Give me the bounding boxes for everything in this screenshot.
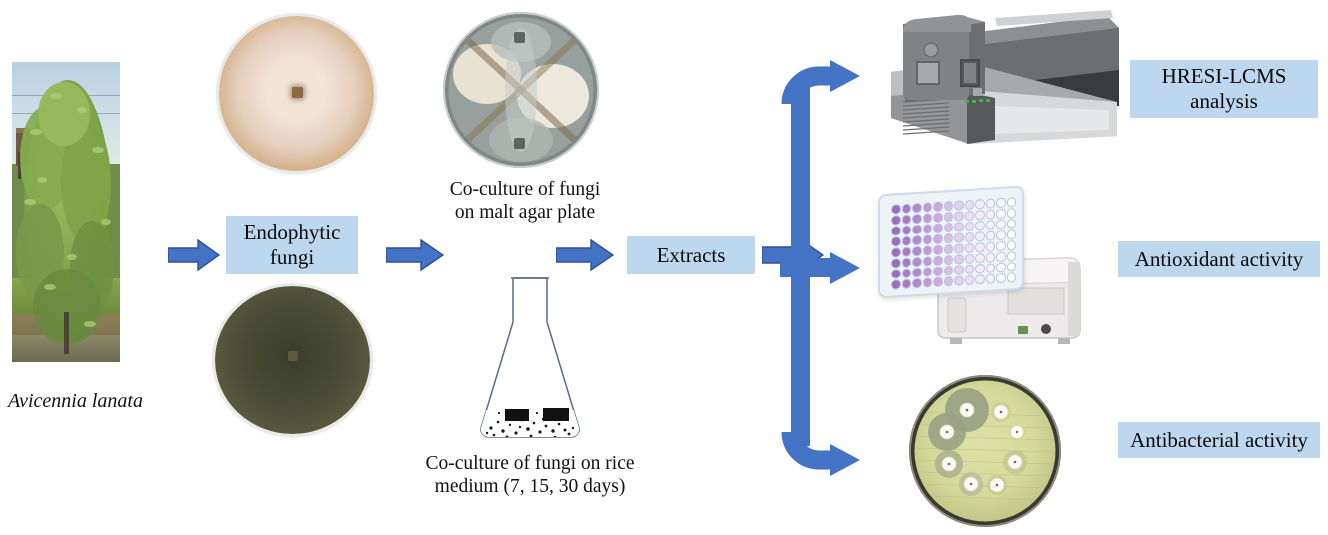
microplate-well — [923, 224, 933, 234]
microplate-well — [944, 244, 954, 254]
extracts-box[interactable]: Extracts — [627, 236, 755, 274]
microplate-well — [923, 256, 933, 266]
microplate-well — [965, 210, 975, 220]
microplate-well — [965, 253, 975, 263]
rice-medium-caption: Co-culture of fungi on rice medium (7, 1… — [385, 452, 675, 499]
microplate-well — [1007, 262, 1017, 272]
microplate-well — [933, 234, 943, 244]
microplate-well — [996, 241, 1006, 251]
microplate-well — [1007, 197, 1017, 207]
microplate-well — [933, 255, 943, 265]
microplate-well — [912, 224, 922, 234]
microplate-well — [954, 254, 964, 264]
microplate-well — [965, 264, 975, 274]
dark-green-fungal-colony-plate — [215, 286, 370, 434]
microplate-well — [954, 211, 964, 221]
microplate-well — [944, 212, 954, 222]
microplate-well — [933, 266, 943, 276]
microplate-well — [902, 214, 912, 224]
microplate-well — [975, 242, 985, 252]
microplate-well — [902, 236, 912, 246]
microplate-well — [944, 255, 954, 265]
microplate-well — [891, 247, 901, 257]
microplate-well — [912, 214, 922, 224]
antibacterial-label-box[interactable]: Antibacterial activity — [1118, 422, 1320, 458]
microplate-well — [944, 233, 954, 243]
microplate-well — [965, 232, 975, 242]
microplate-well — [902, 257, 912, 267]
tan-fungal-colony-plate — [219, 16, 374, 171]
microplate-well — [996, 208, 1006, 218]
microplate-well — [954, 243, 964, 253]
microplate-well — [954, 222, 964, 232]
microplate-well — [902, 246, 912, 256]
hresi-lcms-label-line1: HRESI-LCMS — [1162, 64, 1287, 89]
hresi-lcms-label-box[interactable]: HRESI-LCMS analysis — [1130, 60, 1318, 118]
microplate-well — [954, 200, 964, 210]
colony-inoculum-point — [292, 87, 303, 98]
microplate-well — [954, 265, 964, 275]
microplate-well — [975, 220, 985, 230]
arrow-coculture-to-extracts — [556, 238, 614, 272]
microplate-well — [944, 276, 954, 286]
plant-species-caption: Avicennia lanata — [8, 390, 158, 413]
microplate-well — [902, 279, 912, 289]
microplate-well — [933, 277, 943, 287]
microplate-well — [965, 243, 975, 253]
rice-medium-caption-line2: medium (7, 15, 30 days) — [385, 475, 675, 498]
microplate-well — [891, 215, 901, 225]
co-culture-malt-agar-plate — [443, 12, 599, 168]
microplate-well — [944, 201, 954, 211]
microplate-well-grid — [883, 191, 1019, 293]
microplate-well — [912, 257, 922, 267]
microplate-well — [912, 203, 922, 213]
microplate-well — [923, 234, 933, 244]
microplate-well — [965, 275, 975, 285]
96-well-microplate — [878, 186, 1024, 299]
microplate-well — [902, 268, 912, 278]
arrow-plant-to-fungi — [168, 238, 220, 272]
microplate-well — [975, 274, 985, 284]
malt-agar-caption: Co-culture of fungi on malt agar plate — [420, 178, 630, 225]
microplate-well — [986, 209, 996, 219]
microplate-well — [975, 231, 985, 241]
microplate-well — [986, 241, 996, 251]
microplate-well — [986, 231, 996, 241]
microplate-well — [1007, 219, 1017, 229]
microplate-well — [891, 236, 901, 246]
microplate-well — [1007, 208, 1017, 218]
microplate-well — [891, 204, 901, 214]
microplate-well — [965, 221, 975, 231]
microplate-well — [891, 258, 901, 268]
microplate-well — [1007, 229, 1017, 239]
microplate-well — [1007, 251, 1017, 261]
microplate-well — [891, 226, 901, 236]
microplate-well — [965, 200, 975, 210]
extracts-label: Extracts — [657, 243, 726, 268]
microplate-well — [923, 245, 933, 255]
erlenmeyer-flask-rice-medium — [465, 270, 595, 445]
microplate-well — [902, 225, 912, 235]
microplate-well — [1007, 240, 1017, 250]
microplate-well — [986, 274, 996, 284]
mangrove-tree-photo — [12, 62, 120, 362]
microplate-well — [975, 210, 985, 220]
microplate-well — [912, 278, 922, 288]
endophytic-fungi-label-line2: fungi — [270, 245, 314, 270]
disc-diffusion-agar-plate — [905, 372, 1065, 530]
microplate-well — [891, 269, 901, 279]
microplate-well — [986, 263, 996, 273]
microplate-well — [912, 235, 922, 245]
endophytic-fungi-label-line1: Endophytic — [244, 220, 341, 245]
arrow-fungi-to-coculture — [386, 238, 444, 272]
microplate-well — [933, 202, 943, 212]
colony-inoculum-point — [288, 351, 298, 361]
malt-agar-caption-line1: Co-culture of fungi — [420, 178, 630, 201]
microplate-well — [923, 277, 933, 287]
microplate-well — [986, 220, 996, 230]
lcms-instrument-illustration — [845, 6, 1125, 146]
microplate-well — [912, 246, 922, 256]
photo-foliage — [12, 62, 120, 362]
microplate-well — [933, 223, 943, 233]
microplate-well — [923, 202, 933, 212]
microplate-well — [923, 213, 933, 223]
microplate-well — [912, 267, 922, 277]
microplate-well — [996, 198, 1006, 208]
microplate-well — [891, 279, 901, 289]
microplate-well — [902, 203, 912, 213]
hresi-lcms-label-line2: analysis — [1190, 89, 1258, 114]
microplate-well — [954, 232, 964, 242]
microplate-well — [996, 219, 1006, 229]
microplate-well — [996, 262, 1006, 272]
microplate-well — [1007, 272, 1017, 282]
microplate-well — [944, 222, 954, 232]
microplate-well — [975, 253, 985, 263]
microplate-well — [923, 267, 933, 277]
microplate-well — [996, 251, 1006, 261]
microplate-well — [975, 199, 985, 209]
rice-medium-caption-line1: Co-culture of fungi on rice — [385, 452, 675, 475]
antibacterial-label: Antibacterial activity — [1130, 428, 1308, 453]
microplate-well — [996, 273, 1006, 283]
microplate-well — [933, 212, 943, 222]
microplate-reader-illustration — [890, 190, 1110, 350]
microplate-well — [986, 198, 996, 208]
microplate-well — [986, 252, 996, 262]
antioxidant-label-box[interactable]: Antioxidant activity — [1118, 241, 1320, 277]
malt-agar-caption-line2: on malt agar plate — [420, 201, 630, 224]
endophytic-fungi-box[interactable]: Endophytic fungi — [226, 216, 358, 274]
microplate-well — [954, 275, 964, 285]
antioxidant-label: Antioxidant activity — [1135, 247, 1304, 272]
microplate-well — [944, 265, 954, 275]
microplate-well — [975, 263, 985, 273]
microplate-well — [996, 230, 1006, 240]
microplate-well — [933, 245, 943, 255]
